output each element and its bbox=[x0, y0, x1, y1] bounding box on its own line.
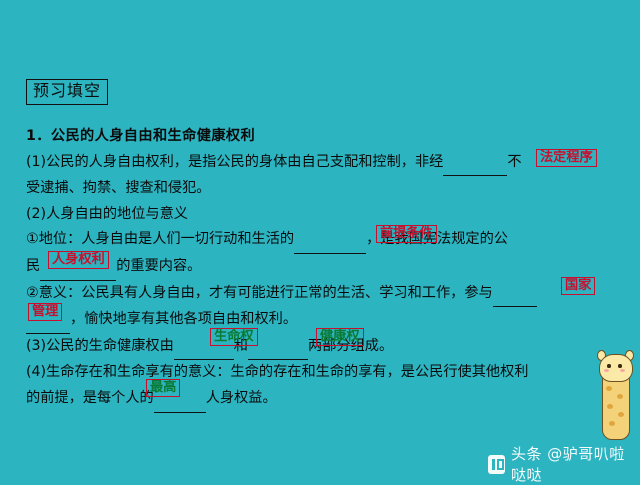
section-title: 预习填空 bbox=[33, 81, 101, 100]
text-1b: 不 bbox=[507, 154, 521, 170]
mascot-head bbox=[599, 354, 633, 382]
text-10b: 人身权益。 bbox=[206, 390, 277, 406]
text-10a: 的前提，是每个人的 bbox=[26, 390, 154, 406]
paragraph-2: 受逮捕、拘禁、搜查和侵犯。 bbox=[26, 176, 606, 202]
paragraph-10: 的前提，是每个人的 最高人身权益。 bbox=[26, 386, 606, 413]
document-body: 1．公民的人身自由和生命健康权利 (1)公民的人身自由权利，是指公民的身体由自己… bbox=[26, 124, 606, 413]
paragraph-4: ①地位：人身自由是人们一切行动和生活的 前提条件，是我国宪法规定的公 bbox=[26, 227, 606, 254]
answer-1: 法定程序 bbox=[536, 149, 597, 167]
text-5b: 的重要内容。 bbox=[116, 258, 201, 274]
giraffe-mascot-icon bbox=[596, 348, 634, 444]
mascot-spot bbox=[606, 386, 612, 391]
paragraph-3: (2)人身自由的地位与意义 bbox=[26, 202, 606, 228]
paragraph-1: (1)公民的人身自由权利，是指公民的身体由自己支配和控制，非经 法定程序不 bbox=[26, 150, 606, 177]
text-8a: (3)公民的生命健康权由 bbox=[26, 338, 174, 354]
mascot-spot bbox=[618, 412, 624, 417]
answer-6: 国家 bbox=[561, 277, 595, 295]
paragraph-9: (4)生命存在和生命享有的意义：生命的存在和生命的享有，是公民行使其他权利 bbox=[26, 360, 606, 386]
text-1a: (1)公民的人身自由权利，是指公民的身体由自己支配和控制，非经 bbox=[26, 154, 443, 170]
answer-8-1: 生命权 bbox=[210, 328, 258, 346]
worksheet-page: 预习填空 1．公民的人身自由和生命健康权利 (1)公民的人身自由权利，是指公民的… bbox=[0, 0, 640, 480]
paragraph-5: 民 人身权利的重要内容。 bbox=[26, 254, 606, 281]
text-5a: 民 bbox=[26, 258, 40, 274]
answer-10: 最高 bbox=[146, 379, 180, 397]
mascot-cheek-left bbox=[604, 369, 609, 372]
paragraph-6: ②意义：公民具有人身自由，才有可能进行正常的生活、学习和工作，参与 国家 bbox=[26, 281, 606, 308]
answer-5: 人身权利 bbox=[48, 251, 109, 269]
mascot-spot bbox=[617, 394, 623, 399]
watermark: 头条 @驴哥叭啦哒哒 bbox=[488, 443, 640, 485]
answer-8-2: 健康权 bbox=[316, 328, 364, 346]
text-6a: ②意义：公民具有人身自由，才有可能进行正常的生活、学习和工作，参与 bbox=[26, 285, 493, 301]
answer-4: 前提条件 bbox=[376, 225, 437, 243]
paragraph-8: (3)公民的生命健康权由 生命权和 健康权两部分组成。 bbox=[26, 334, 606, 361]
text-7b: ，愉快地享有其他各项自由和权利。 bbox=[70, 311, 297, 327]
mascot-spot bbox=[607, 404, 613, 409]
mascot-spot bbox=[609, 421, 615, 426]
mascot-eye-right bbox=[618, 364, 622, 368]
toutiao-logo-icon bbox=[488, 455, 505, 474]
mascot-eye-left bbox=[607, 364, 611, 368]
text-4a: ①地位：人身自由是人们一切行动和生活的 bbox=[26, 231, 294, 247]
section-title-box: 预习填空 bbox=[26, 79, 108, 105]
answer-7: 管理 bbox=[28, 303, 62, 321]
watermark-text: 头条 @驴哥叭啦哒哒 bbox=[511, 443, 640, 485]
mascot-cheek-right bbox=[620, 369, 625, 372]
heading-line: 1．公民的人身自由和生命健康权利 bbox=[26, 124, 606, 150]
